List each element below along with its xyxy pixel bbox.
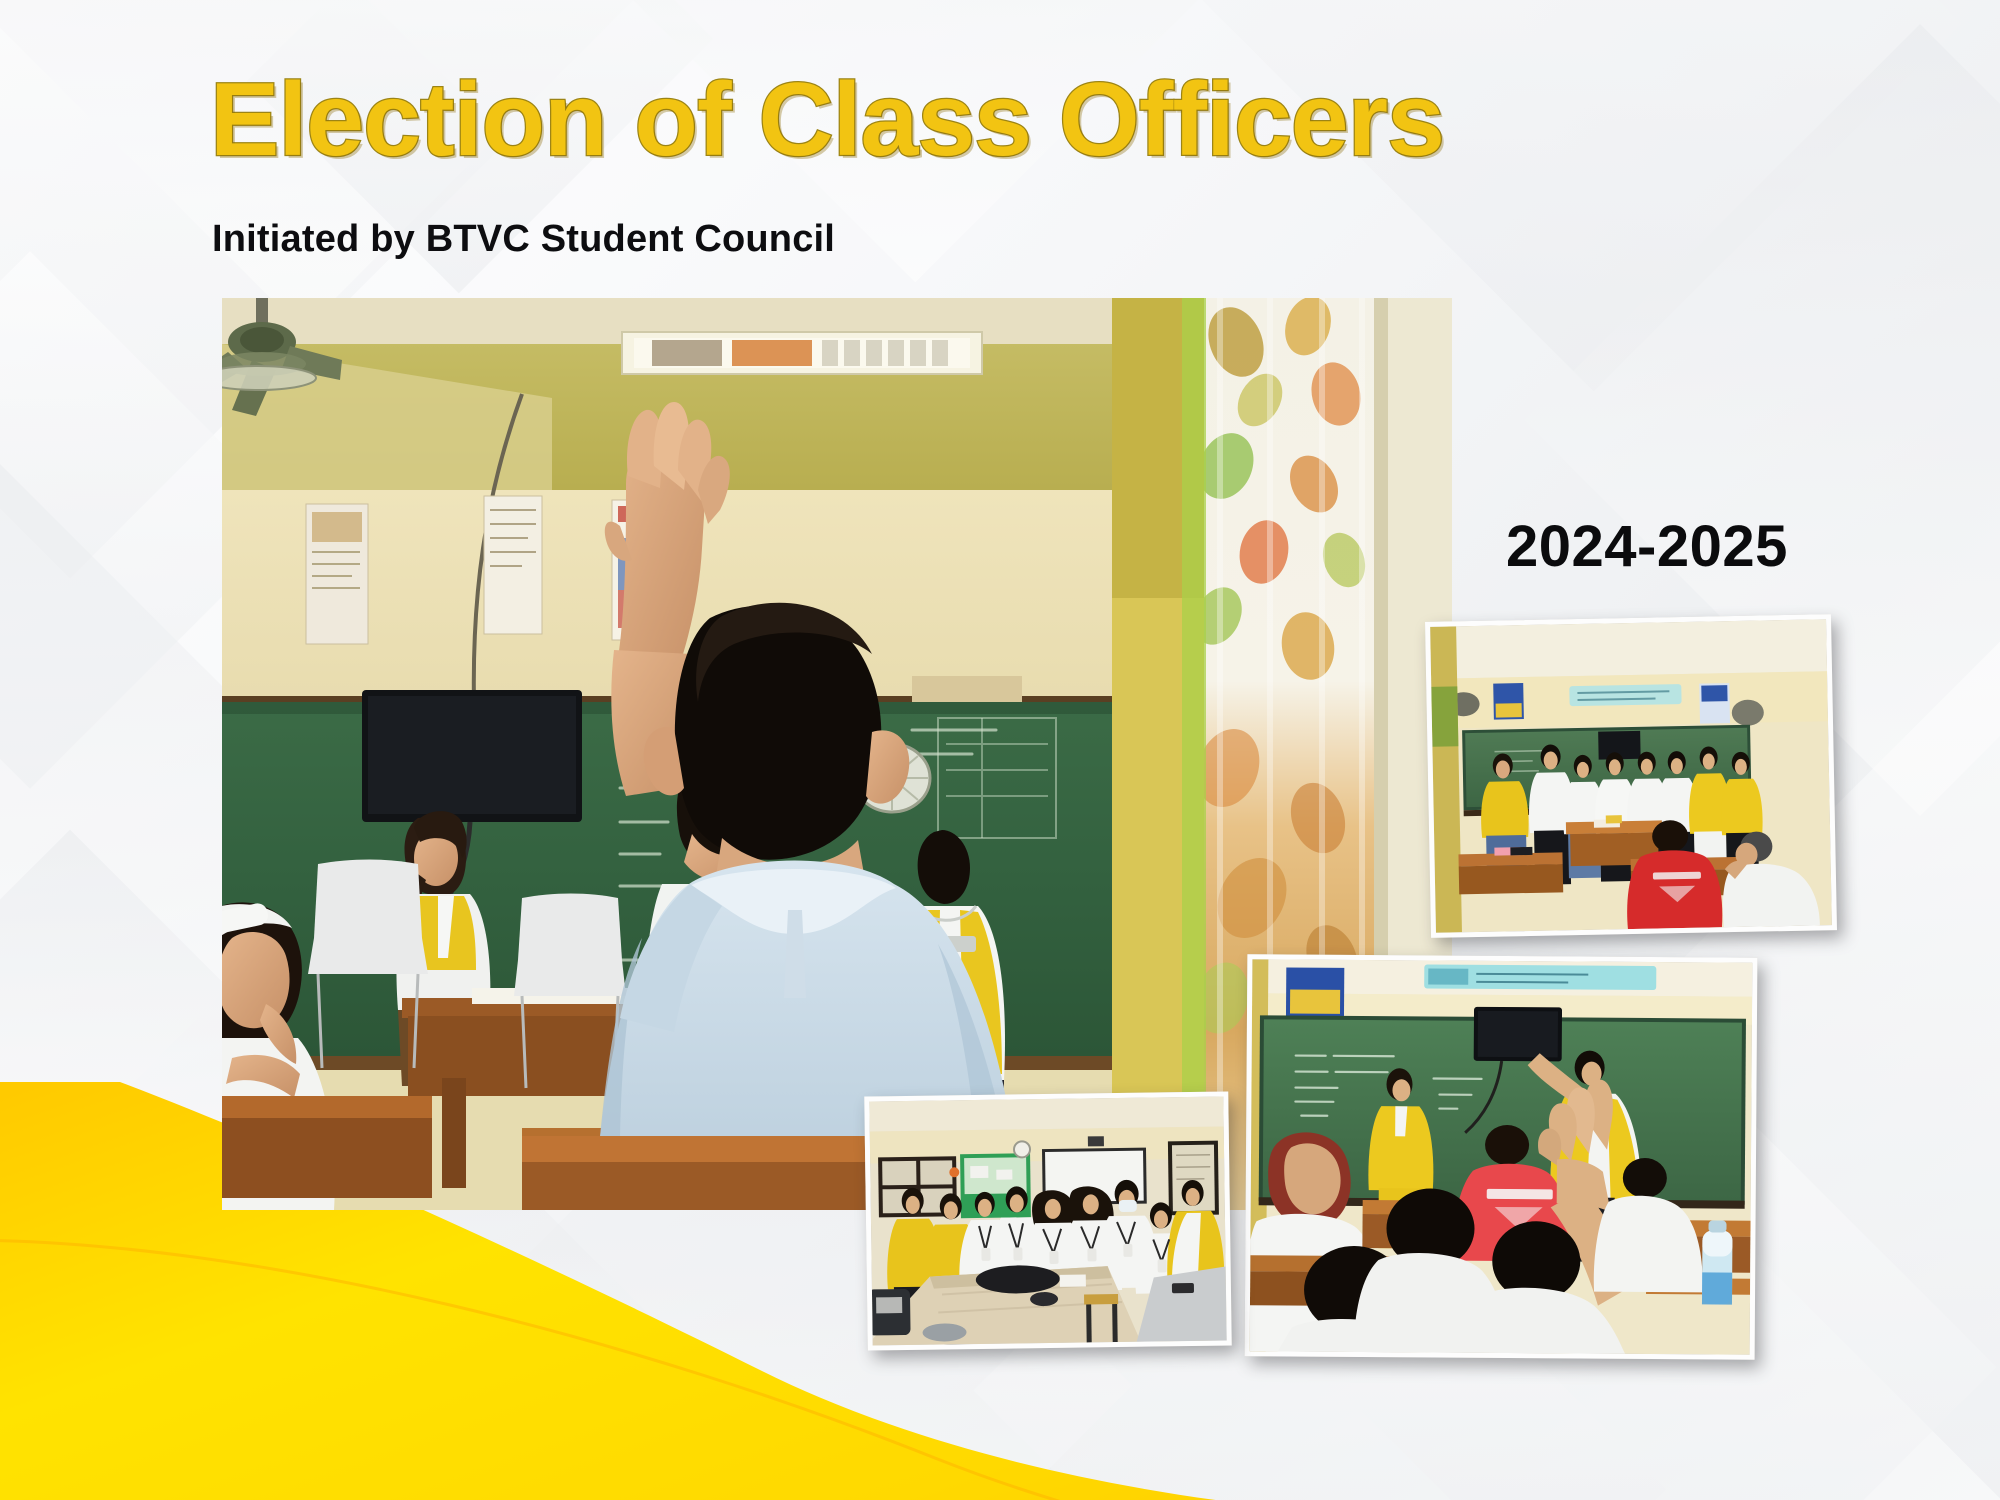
inset-photo-council-group[interactable] (864, 1091, 1232, 1350)
page-title: Election of Class Officers (210, 68, 1444, 172)
inset-photo-candidates-at-blackboard[interactable] (1425, 614, 1837, 938)
school-year: 2024-2025 (1506, 513, 1788, 580)
inset-photo-nomination-session[interactable] (1245, 954, 1758, 1360)
slide-canvas: Election of Class Officers Initiated by … (0, 0, 2000, 1500)
page-subtitle: Initiated by BTVC Student Council (212, 218, 835, 261)
